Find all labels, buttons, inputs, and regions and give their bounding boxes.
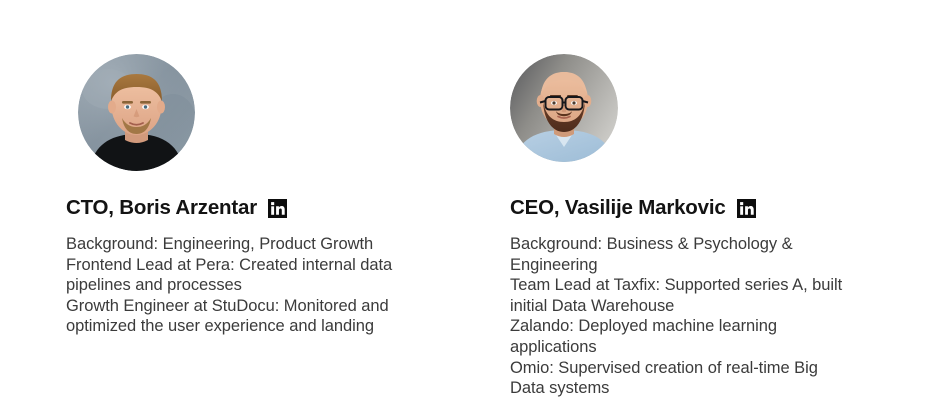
bio-line: Zalando: Deployed machine learning appli… (510, 316, 848, 357)
bio-line: Background: Business & Psychology & Engi… (510, 234, 848, 275)
bio-line: Growth Engineer at StuDocu: Monitored an… (66, 296, 402, 337)
linkedin-icon[interactable] (268, 199, 287, 218)
bio-line: Background: Engineering, Product Growth (66, 234, 402, 255)
avatar-boris-arzentar (78, 54, 195, 171)
bio-line: Team Lead at Taxfix: Supported series A,… (510, 275, 848, 316)
profile-bio-ceo: Background: Business & Psychology & Engi… (510, 234, 848, 399)
bio-line: Omio: Supervised creation of real-time B… (510, 358, 848, 399)
profile-bio-cto: Background: Engineering, Product Growth … (66, 234, 402, 337)
bio-line: Frontend Lead at Pera: Created internal … (66, 255, 402, 296)
avatar-vasilije-markovic (510, 54, 618, 162)
linkedin-icon[interactable] (737, 199, 756, 218)
profile-heading-ceo: CEO, Vasilije Markovic (510, 196, 756, 220)
team-profiles-section: CTO, Boris Arzentar Background: Engineer… (0, 0, 948, 412)
profile-card-cto: CTO, Boris Arzentar Background: Engineer… (66, 0, 406, 412)
profile-name-ceo: CEO, Vasilije Markovic (510, 196, 726, 220)
profile-heading-cto: CTO, Boris Arzentar (66, 196, 287, 220)
profile-name-cto: CTO, Boris Arzentar (66, 196, 257, 220)
profile-card-ceo: CEO, Vasilije Markovic Background: Busin… (510, 0, 850, 412)
